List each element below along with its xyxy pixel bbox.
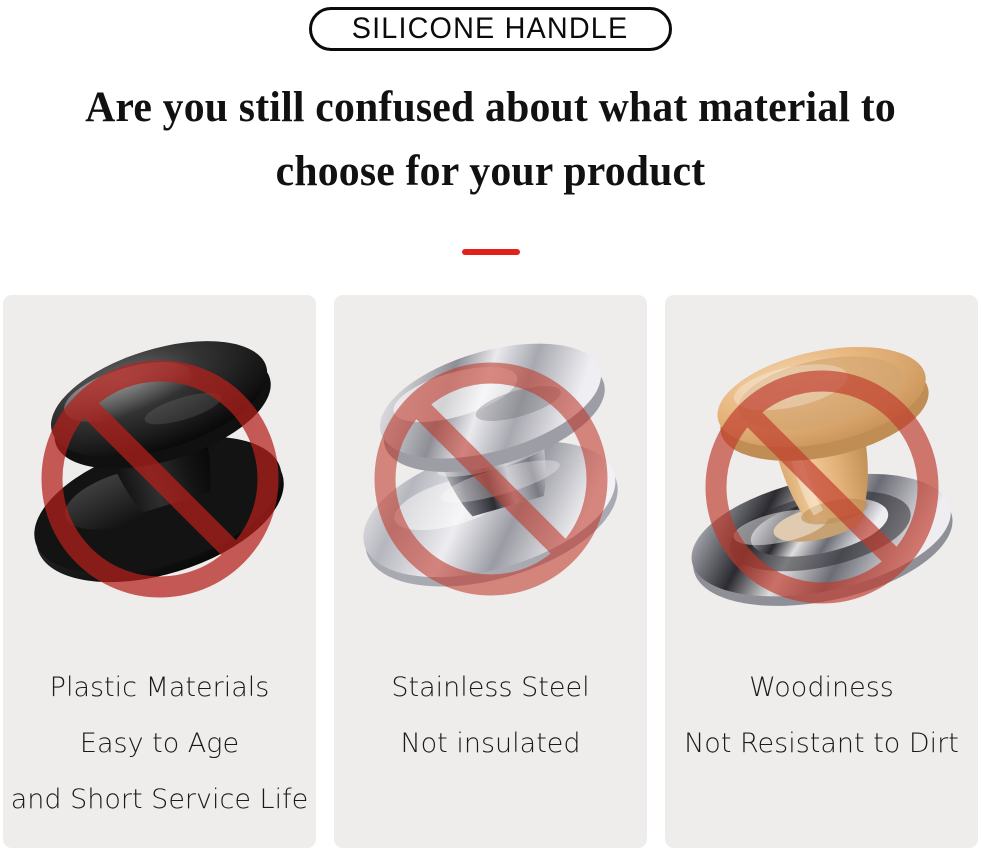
divider-container xyxy=(0,249,981,255)
headline-line-1: Are you still confused about what materi… xyxy=(15,76,967,140)
material-card-stainless-steel: Stainless Steel Not insulated xyxy=(334,295,647,848)
stainless-steel-pot-lid-knob-icon xyxy=(341,307,641,647)
card-captions-plastic: Plastic Materials Easy to Age and Short … xyxy=(3,660,316,848)
red-divider xyxy=(462,249,520,255)
caption-line: Not insulated xyxy=(340,716,641,772)
material-card-plastic: Plastic Materials Easy to Age and Short … xyxy=(3,295,316,848)
page-title: Are you still confused about what materi… xyxy=(0,76,981,204)
product-image-plastic xyxy=(3,295,316,660)
caption-line: Stainless Steel xyxy=(340,660,641,716)
product-image-woodiness xyxy=(665,295,978,660)
product-image-stainless-steel xyxy=(334,295,647,660)
caption-line: Easy to Age xyxy=(9,716,310,772)
caption-line: Plastic Materials xyxy=(9,660,310,716)
black-plastic-pot-lid-knob-icon xyxy=(10,307,310,647)
badge-label: SILICONE HANDLE xyxy=(352,14,629,44)
card-captions-woodiness: Woodiness Not Resistant to Dirt xyxy=(665,660,978,848)
material-card-woodiness: Woodiness Not Resistant to Dirt xyxy=(665,295,978,848)
caption-line: Not Resistant to Dirt xyxy=(671,716,972,772)
caption-line: and Short Service Life xyxy=(9,772,310,828)
caption-line: Woodiness xyxy=(671,660,972,716)
wooden-pot-lid-knob-icon xyxy=(672,307,972,647)
card-captions-stainless-steel: Stainless Steel Not insulated xyxy=(334,660,647,848)
badge-container: SILICONE HANDLE xyxy=(0,7,981,51)
headline-line-2: choose for your product xyxy=(15,140,967,204)
silicone-handle-badge: SILICONE HANDLE xyxy=(309,7,671,51)
material-comparison-cards: Plastic Materials Easy to Age and Short … xyxy=(3,295,978,848)
